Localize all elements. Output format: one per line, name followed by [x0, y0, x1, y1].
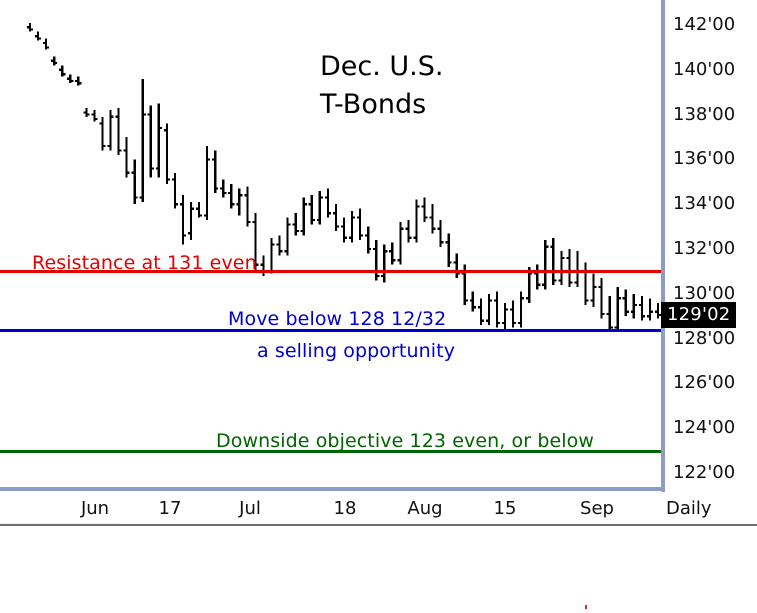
ytick-126-00: 126'00 — [673, 372, 735, 393]
xtick-jun: Jun — [81, 498, 109, 519]
objective-label: Downside objective 123 even, or below — [216, 430, 594, 452]
ytick-136-00: 136'00 — [673, 148, 735, 169]
current-price-tag: 129'02 — [661, 302, 736, 328]
ytick-128-00: 128'00 — [673, 328, 735, 349]
ytick-142-00: 142'00 — [673, 14, 735, 35]
support-label-line-2: a selling opportunity — [257, 340, 455, 362]
ytick-138-00: 138'00 — [673, 104, 735, 125]
ytick-134-00: 134'00 — [673, 193, 735, 214]
bottom-rule — [0, 524, 757, 526]
resistance-label: Resistance at 131 even — [32, 252, 257, 274]
xtick-jul: Jul — [239, 498, 261, 519]
xtick-aug: Aug — [407, 498, 442, 519]
xtick-daily: Daily — [666, 498, 712, 519]
chart-title-line-2: T-Bonds — [320, 86, 443, 124]
support-label-line-1: Move below 128 12/32 — [228, 308, 446, 330]
xtick-17: 17 — [159, 498, 182, 519]
xtick-sep: Sep — [580, 498, 614, 519]
stray-mark — [585, 605, 587, 609]
ytick-124-00: 124'00 — [673, 417, 735, 438]
ytick-140-00: 140'00 — [673, 59, 735, 80]
xtick-15: 15 — [494, 498, 517, 519]
x-axis-line — [0, 487, 665, 491]
ytick-130-00: 130'00 — [673, 283, 735, 304]
ytick-132-00: 132'00 — [673, 238, 735, 259]
chart-title-line-1: Dec. U.S. — [320, 48, 443, 86]
price-chart: Resistance at 131 even Move below 128 12… — [0, 0, 757, 613]
xtick-18: 18 — [334, 498, 357, 519]
ytick-122-00: 122'00 — [673, 462, 735, 483]
y-axis-line — [661, 0, 665, 492]
chart-title: Dec. U.S. T-Bonds — [320, 48, 443, 124]
